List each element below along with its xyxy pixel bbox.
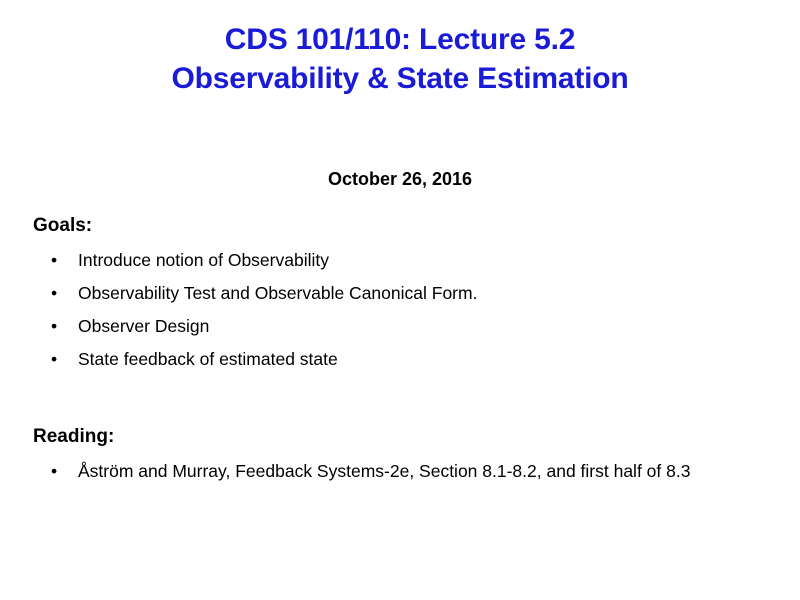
list-item: • State feedback of estimated state — [33, 346, 773, 372]
bullet-dot-icon: • — [51, 346, 57, 372]
bullet-dot-icon: • — [51, 458, 57, 484]
slide-canvas: CDS 101/110: Lecture 5.2 Observability &… — [0, 0, 800, 600]
title-line-1: CDS 101/110: Lecture 5.2 — [0, 20, 800, 59]
slide-title: CDS 101/110: Lecture 5.2 Observability &… — [0, 20, 800, 98]
reading-item-1-label: Åström and Murray, Feedback Systems-2e, … — [78, 458, 768, 484]
goals-item-2-label: Observability Test and Observable Canoni… — [78, 280, 773, 306]
bullet-dot-icon: • — [51, 247, 57, 273]
section-reading: Reading: • Åström and Murray, Feedback S… — [33, 425, 773, 484]
bullet-dot-icon: • — [51, 313, 57, 339]
title-line-2: Observability & State Estimation — [0, 59, 800, 98]
reading-heading: Reading: — [33, 425, 773, 449]
list-item: • Introduce notion of Observability — [33, 247, 773, 273]
list-item: • Åström and Murray, Feedback Systems-2e… — [33, 458, 773, 484]
goals-heading: Goals: — [33, 214, 773, 238]
lecture-date: October 26, 2016 — [0, 168, 800, 190]
goals-bullet-list: • Introduce notion of Observability • Ob… — [33, 247, 773, 372]
goals-item-4-label: State feedback of estimated state — [78, 346, 773, 372]
goals-item-3-label: Observer Design — [78, 313, 773, 339]
bullet-dot-icon: • — [51, 280, 57, 306]
date-block: October 26, 2016 — [0, 168, 800, 190]
section-goals: Goals: • Introduce notion of Observabili… — [33, 214, 773, 372]
list-item: • Observer Design — [33, 313, 773, 339]
goals-item-1-label: Introduce notion of Observability — [78, 247, 773, 273]
list-item: • Observability Test and Observable Cano… — [33, 280, 773, 306]
reading-bullet-list: • Åström and Murray, Feedback Systems-2e… — [33, 458, 773, 484]
